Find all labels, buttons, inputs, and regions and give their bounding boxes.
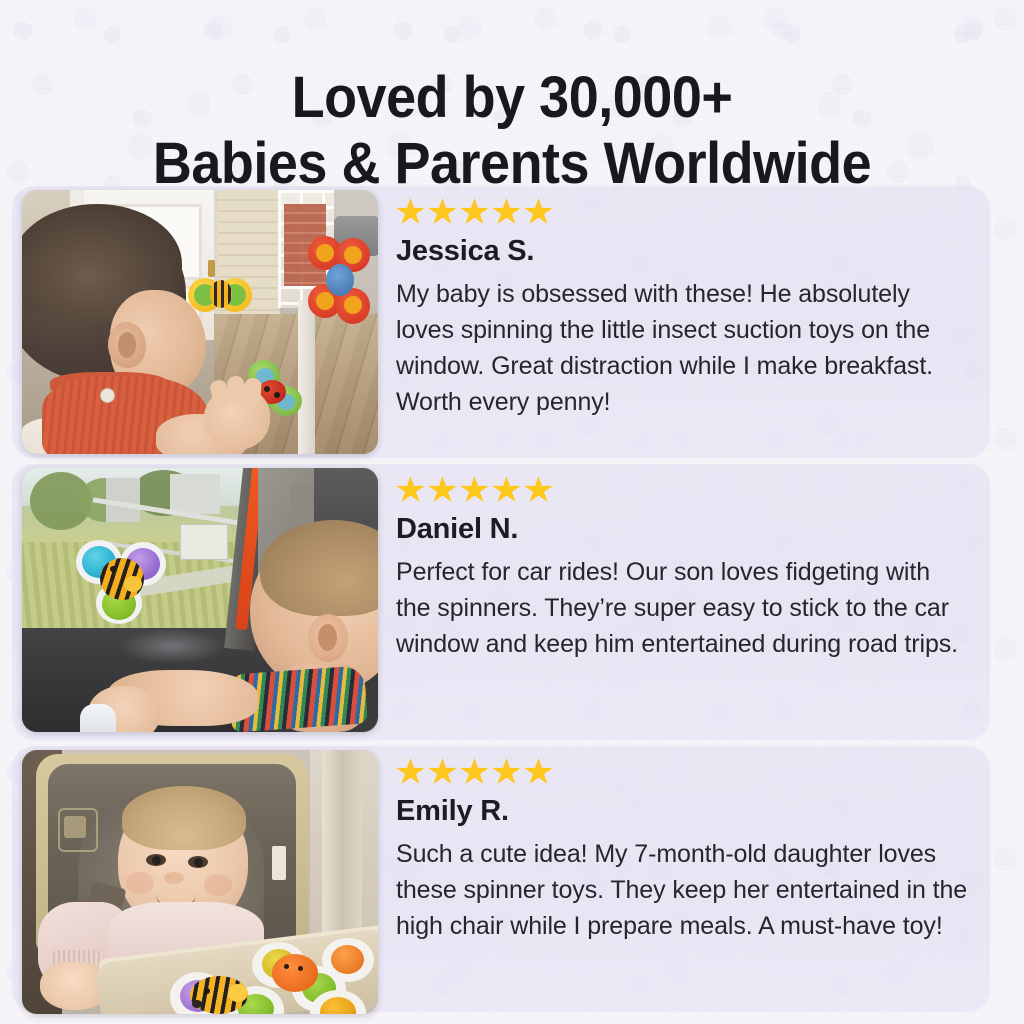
review-text: My baby is obsessed with these! He absol… [396,276,968,420]
review-photo [22,750,378,1014]
star-icon [428,758,457,786]
review-photo-illustration [22,750,378,1014]
page-title: Loved by 30,000+ Babies & Parents Worldw… [36,65,988,197]
star-rating-label: 5 out of 5 stars [556,198,557,199]
star-icon [524,198,553,226]
star-icon [460,758,489,786]
page-title-line-2: Babies & Parents Worldwide [36,131,988,197]
star-rating-label: 5 out of 5 stars [556,758,557,759]
review-content: 5 out of 5 stars Jessica S. My baby is o… [396,198,968,420]
caterpillar-toy-eye-icon [284,964,289,969]
review-photo-illustration [22,468,378,732]
review-text: Such a cute idea! My 7-month-old daughte… [396,836,968,944]
review-content: 5 out of 5 stars Daniel N. Perfect for c… [396,476,968,662]
bee-spinner-toy-icon [190,976,248,1014]
star-icon [396,476,425,504]
reviewer-name: Emily R. [396,794,968,828]
review-card: 5 out of 5 stars Daniel N. Perfect for c… [12,464,990,740]
star-rating: 5 out of 5 stars [396,198,968,228]
star-icon [492,476,521,504]
page-title-line-1: Loved by 30,000+ [36,65,988,131]
star-rating: 5 out of 5 stars [396,476,968,506]
star-icon [396,758,425,786]
bee-spinner-toy-icon [188,278,252,312]
star-icon [428,476,457,504]
star-icon [524,476,553,504]
bee-spinner-toy-icon [76,540,172,624]
spinner-toy-icon [331,945,364,974]
reviewer-name: Jessica S. [396,234,968,268]
butterfly-spinner-toy-icon [308,236,370,326]
review-card: 5 out of 5 stars Emily R. Such a cute id… [12,746,990,1012]
caterpillar-toy-eye-icon [298,966,303,971]
star-icon [492,758,521,786]
review-photo [22,468,378,732]
caterpillar-toy-icon [272,954,318,992]
star-icon [460,476,489,504]
star-icon [524,758,553,786]
star-icon [396,198,425,226]
star-icon [460,198,489,226]
review-photo [22,190,378,454]
star-icon [428,198,457,226]
review-content: 5 out of 5 stars Emily R. Such a cute id… [396,758,968,944]
review-photo-illustration [22,190,378,454]
review-card: 5 out of 5 stars Jessica S. My baby is o… [12,186,990,458]
review-text: Perfect for car rides! Our son loves fid… [396,554,968,662]
star-rating-label: 5 out of 5 stars [556,476,557,477]
star-rating: 5 out of 5 stars [396,758,968,788]
reviewer-name: Daniel N. [396,512,968,546]
star-icon [492,198,521,226]
